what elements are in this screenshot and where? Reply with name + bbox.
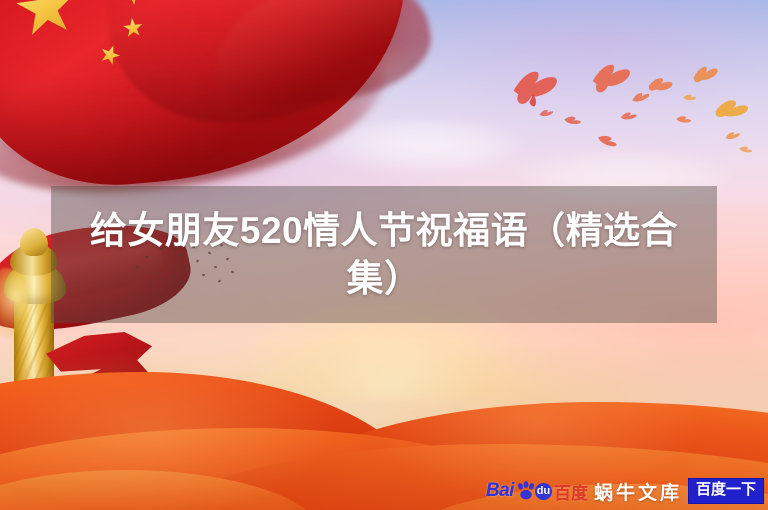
- paw-icon: [515, 480, 537, 502]
- baidu-wordmark: Bai: [486, 480, 514, 502]
- baidu-logo[interactable]: Bai du 百度: [486, 479, 588, 504]
- bird-4: [689, 58, 724, 89]
- bird-icon: [710, 92, 754, 126]
- bird-icon: [674, 111, 694, 129]
- pillar-finial: [20, 228, 48, 256]
- bird-icon: [617, 107, 640, 124]
- bird-7: [617, 107, 640, 124]
- watermark-bar: Bai du 百度 蜗牛文库 百度一下: [486, 476, 764, 506]
- bird-icon: [682, 90, 699, 104]
- bird-12: [682, 90, 699, 104]
- bird-13: [537, 105, 556, 121]
- banner-image: 给女朋友520情人节祝福语（精选合集） Bai du 百度 蜗牛文库 百度一下: [0, 0, 768, 510]
- bird-icon: [689, 58, 724, 89]
- bird-icon: [537, 105, 556, 121]
- baidu-search-button[interactable]: 百度一下: [688, 478, 764, 504]
- bird-9: [674, 111, 694, 129]
- baidu-chinese-name: 百度: [554, 479, 588, 504]
- bird-icon: [508, 62, 564, 110]
- baidu-du-badge: du: [535, 483, 552, 500]
- baidu-paw-icon: [515, 480, 537, 502]
- bird-5: [710, 92, 754, 126]
- page-title: 给女朋友520情人节祝福语（精选合集）: [51, 186, 717, 323]
- site-name-watermark: 蜗牛文库: [594, 478, 682, 505]
- bird-1: [508, 62, 564, 110]
